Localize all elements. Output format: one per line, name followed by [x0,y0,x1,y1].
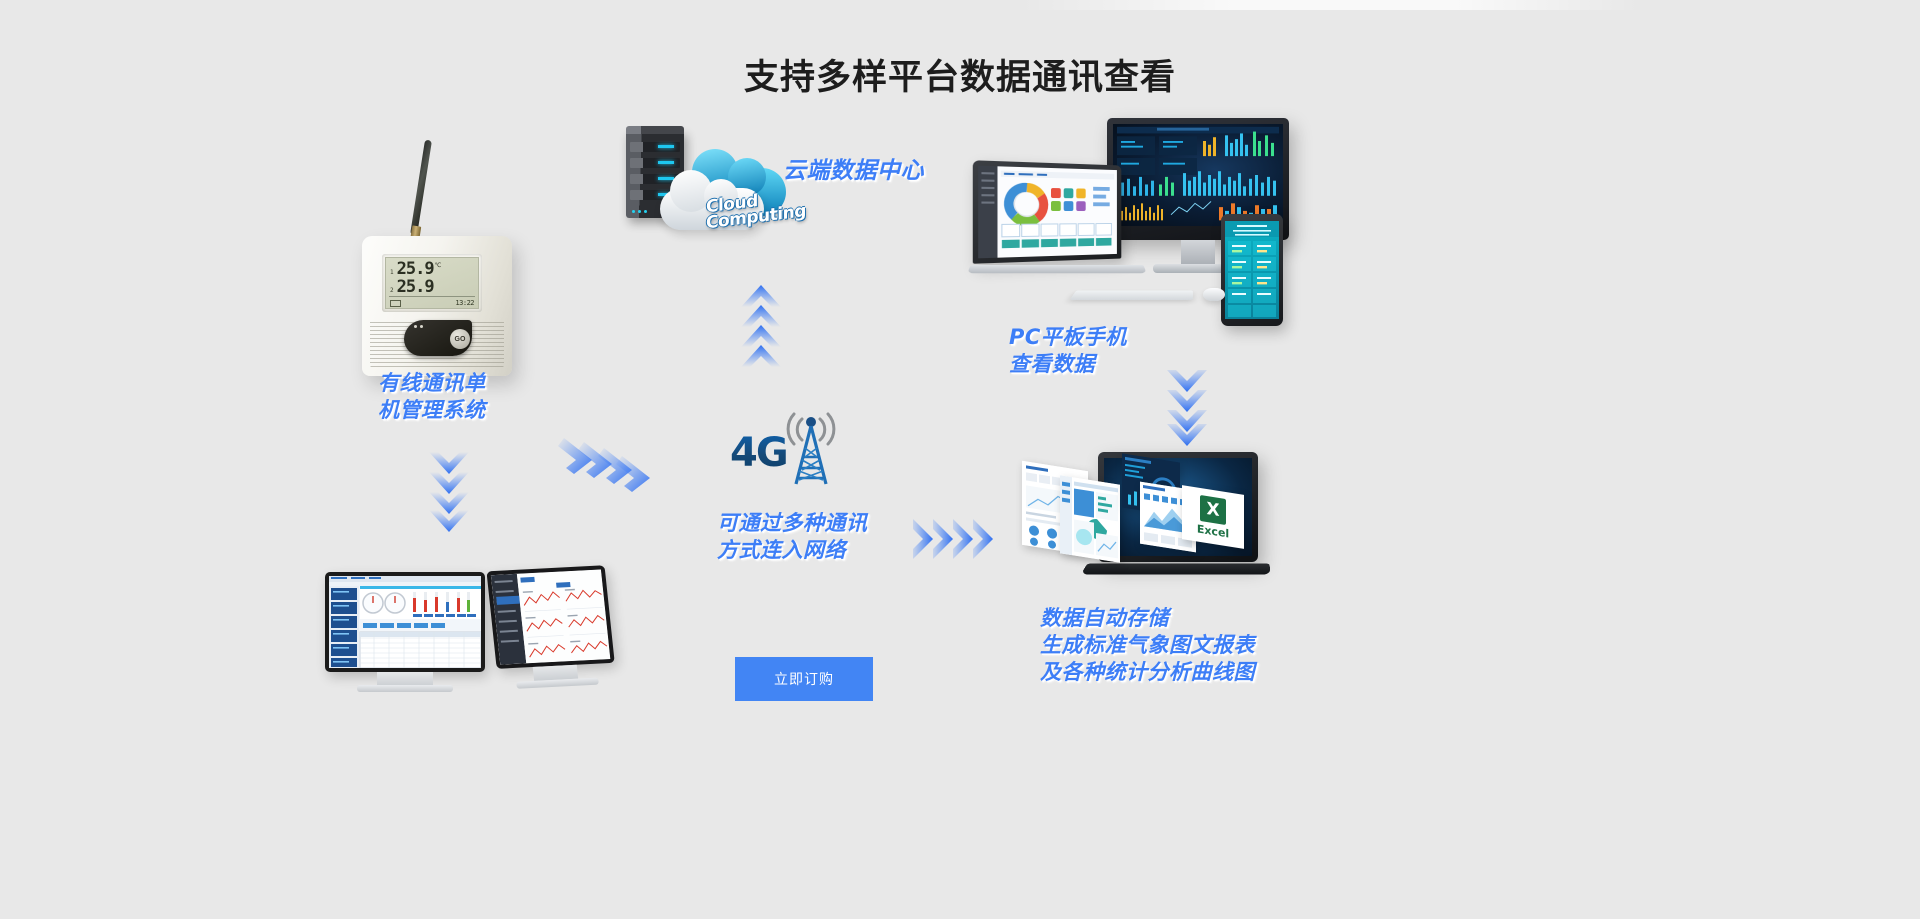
arrow-network-to-cloud [740,285,782,375]
monitor-charts-base [516,678,599,689]
status-leds [414,325,423,328]
sensor-lcd-screen: 1 25.9 ℃ 2 25.9 13:22 [385,257,479,309]
tablet-device [1221,214,1283,326]
laptop-dashboard-screen [978,166,1117,259]
excel-badge: X Excel [1182,485,1244,549]
lcd-time: 13:22 [455,299,474,307]
pc-tablet-phone-devices [975,118,1305,308]
lcd-channel-1-value: 25.9 [397,261,434,278]
lcd-channel-1-unit: ℃ [435,262,442,269]
reports-laptop-device: X Excel [1022,452,1260,587]
imac-stand [1181,240,1215,266]
top-highlight-strip [1020,0,1640,10]
lcd-channel-1-label: 1 [390,269,394,276]
tablet-dashboard-screen [1225,221,1279,319]
caption-cloud-center: 云端数据中心 [783,158,924,185]
sensor-lcd-frame: 1 25.9 ℃ 2 25.9 13:22 [382,254,482,312]
cloud-data-center-graphic: Cloud Computing [618,130,823,245]
network-4g-graphic: 4G [730,400,850,490]
arrow-devices-to-reports [1166,370,1208,453]
arrow-software-to-network [558,438,658,513]
caption-wired-system: 有线通讯单 机管理系统 [378,370,486,424]
monitor-base [357,685,453,692]
arrow-sensor-to-software [428,452,470,539]
lcd-row-channel-2: 2 25.9 [390,279,475,296]
caption-multi-comm: 可通过多种通讯 方式连入网络 [717,510,868,564]
wireless-sensor-device: 1 25.9 ℃ 2 25.9 13:22 GO [362,140,522,355]
lcd-channel-2-label: 2 [390,287,394,294]
laptop-device [975,163,1127,283]
monitor-charts-screen [491,569,610,664]
battery-icon [390,300,401,307]
page-title: 支持多样平台数据通讯查看 [0,49,1920,100]
lcd-divider [389,296,475,297]
laptop-keyboard[interactable] [967,265,1146,273]
excel-glyph-icon: X [1200,494,1226,524]
lcd-footer: 13:22 [390,299,474,307]
caption-pc-tablet-phone: PC平板手机 查看数据 [1009,324,1127,378]
monitor-software-screen [329,576,481,668]
caption-auto-storage: 数据自动存储 生成标准气象图文报表 及各种统计分析曲线图 [1040,605,1255,686]
desktop-monitor-software [325,572,485,694]
lcd-row-channel-1: 1 25.9 ℃ [390,261,475,278]
cell-tower-icon [772,400,850,486]
order-now-button[interactable]: 立即订购 [735,657,873,701]
desktop-monitor-charts [486,565,617,695]
lcd-channel-2-value: 25.9 [397,279,434,296]
reports-laptop-deck [1081,564,1271,575]
excel-label: Excel [1197,522,1229,540]
floating-panel-dashboard [1060,475,1120,563]
go-button[interactable]: GO [450,329,470,349]
arrow-network-to-reports [913,518,999,565]
poster-stage: 支持多样平台数据通讯查看 1 25.9 ℃ 2 25.9 13:22 [0,0,1920,919]
mouse[interactable] [1203,288,1225,301]
keyboard[interactable] [1069,290,1193,300]
monitor-stand [377,672,433,686]
antenna-icon [410,140,432,236]
imac-dashboard-screen [1113,124,1283,226]
